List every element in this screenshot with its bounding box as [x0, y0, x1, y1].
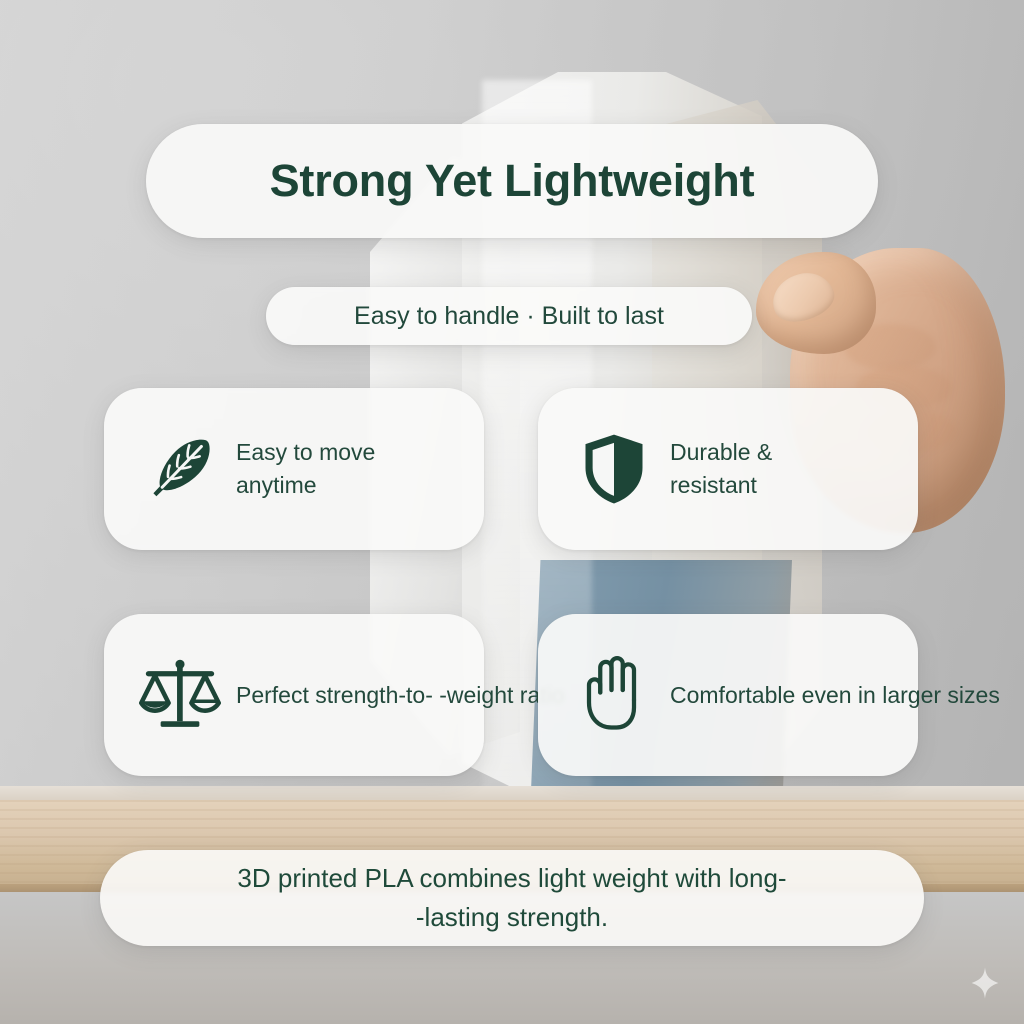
feather-icon [138, 427, 222, 511]
feature-card-durable[interactable]: Durable & resistant [538, 388, 918, 550]
balance-scale-icon [138, 653, 222, 737]
feature-card-comfortable[interactable]: Comfortable even in larger sizes [538, 614, 918, 776]
promo-graphic: Strong Yet Lightweight Easy to handle · … [0, 0, 1024, 1024]
footer-caption: 3D printed PLA combines light weight wit… [237, 859, 786, 937]
shield-icon [572, 427, 656, 511]
footer-caption-pill: 3D printed PLA combines light weight wit… [100, 850, 924, 946]
feature-card-strength-to-weight[interactable]: Perfect strength-to- -weight ratio [104, 614, 484, 776]
feature-label: Perfect strength-to- -weight ratio [236, 679, 565, 712]
feature-label: Comfortable even in larger sizes [670, 679, 1000, 712]
page-title: Strong Yet Lightweight [270, 155, 755, 207]
feature-label: Durable & resistant [670, 436, 772, 501]
feature-card-easy-to-move[interactable]: Easy to move anytime [104, 388, 484, 550]
sparkle-icon [968, 966, 1002, 1000]
hand-icon [572, 653, 656, 737]
subtitle-pill: Easy to handle · Built to last [266, 287, 752, 345]
title-pill: Strong Yet Lightweight [146, 124, 878, 238]
feature-label: Easy to move anytime [236, 436, 375, 501]
page-subtitle: Easy to handle · Built to last [354, 302, 664, 331]
